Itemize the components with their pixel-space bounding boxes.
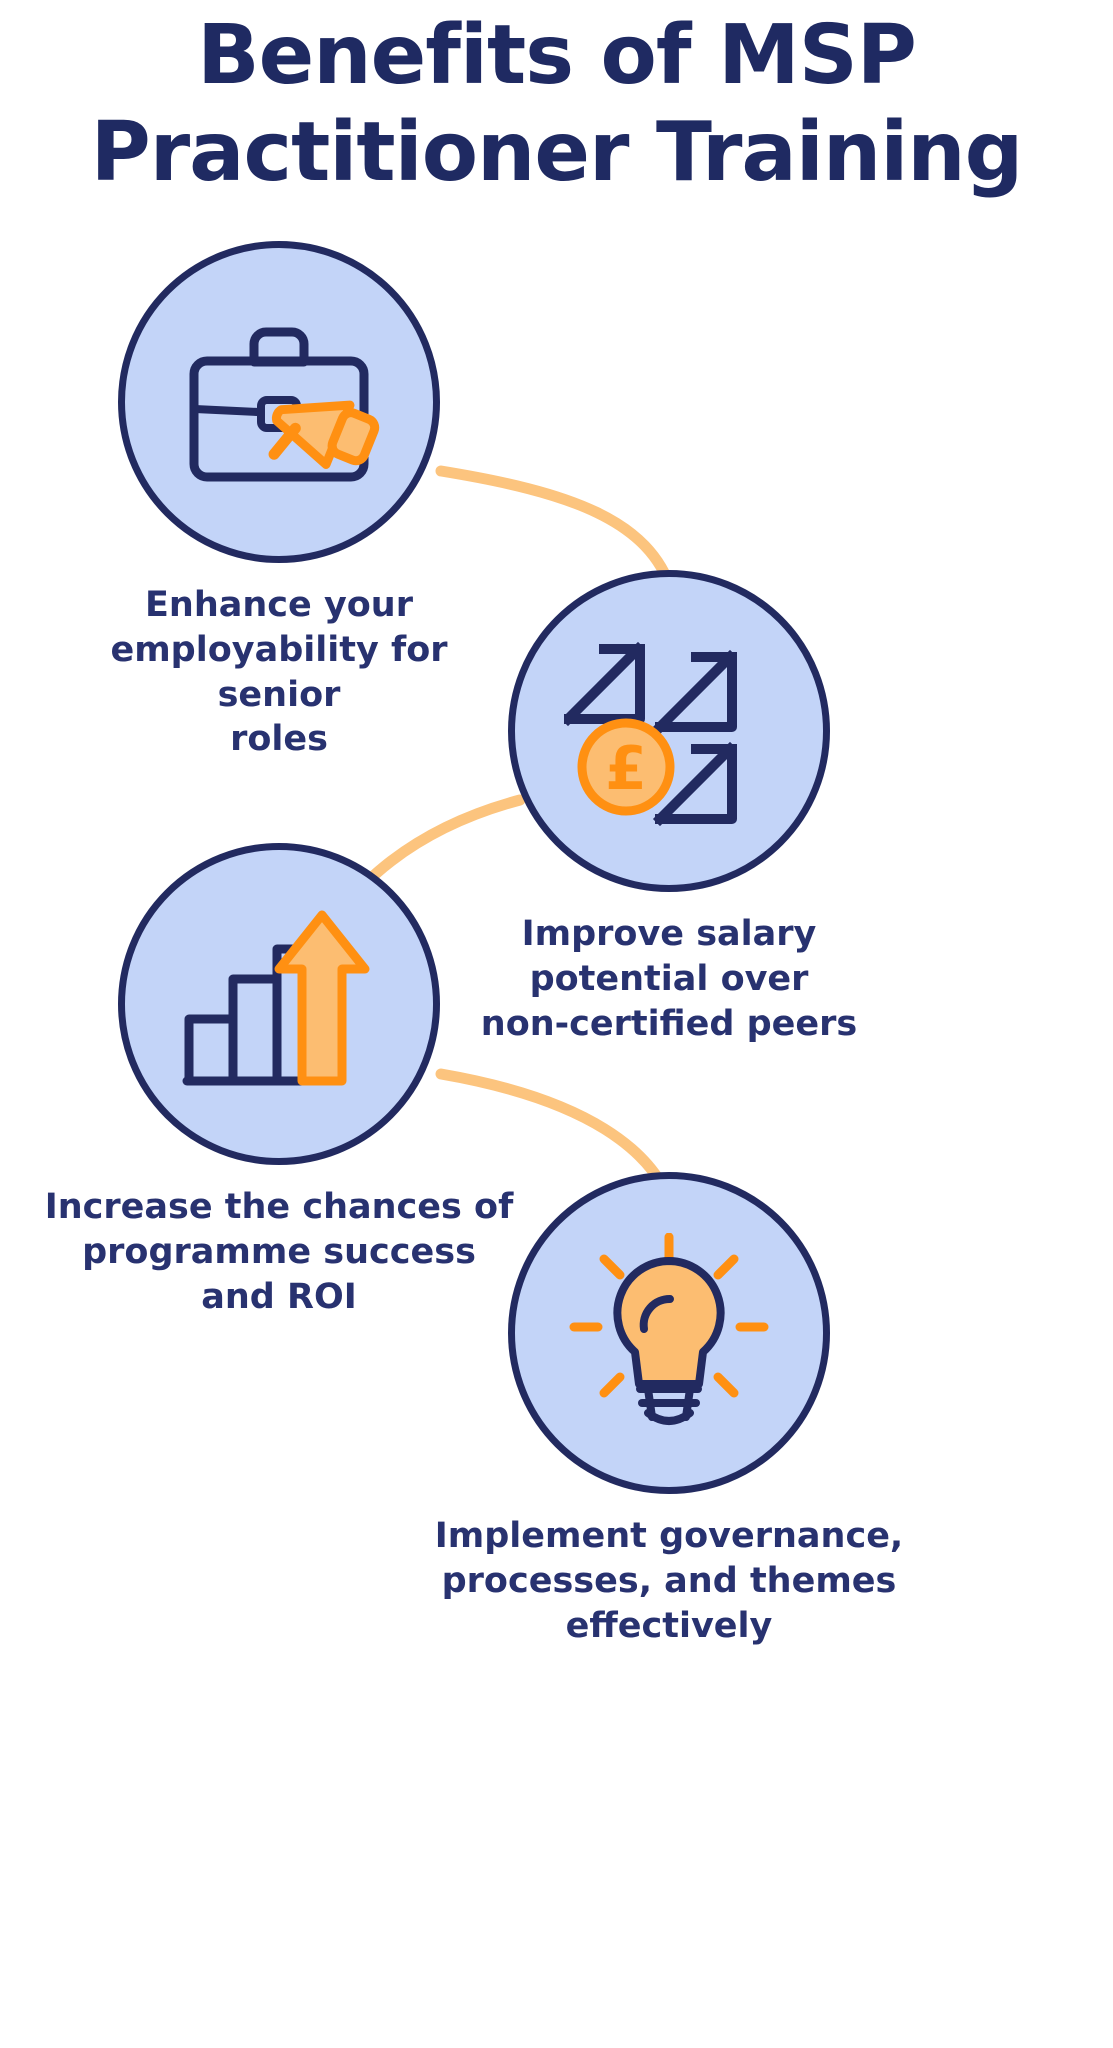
- benefit-node-3[interactable]: Increase the chances of programme succes…: [118, 843, 514, 1319]
- caption-line: Implement governance,: [434, 1514, 904, 1559]
- caption-line: roles: [44, 717, 514, 762]
- bar-chart-up-arrow-icon: [179, 909, 379, 1099]
- infographic-root: Benefits of MSP Practitioner Training: [0, 0, 1113, 2048]
- lightbulb-idea-icon: [564, 1233, 774, 1433]
- benefit-node-2[interactable]: £ Improve salary potential over non-cert…: [508, 570, 904, 1046]
- benefit-node-1[interactable]: Enhance your employability for senior ro…: [118, 241, 514, 762]
- benefit-caption-1: Enhance your employability for senior ro…: [44, 583, 514, 762]
- benefit-icon-circle-2: £: [508, 570, 830, 892]
- benefit-caption-4: Implement governance, processes, and the…: [434, 1514, 904, 1648]
- caption-line: programme success: [44, 1230, 514, 1275]
- benefit-caption-3: Increase the chances of programme succes…: [44, 1185, 514, 1319]
- growth-arrows-pound-coin-icon: £: [564, 631, 774, 831]
- caption-line: processes, and themes: [434, 1559, 904, 1604]
- benefit-icon-circle-3: [118, 843, 440, 1165]
- caption-line: Increase the chances of: [44, 1185, 514, 1230]
- benefit-node-4[interactable]: Implement governance, processes, and the…: [508, 1172, 904, 1648]
- caption-line: Enhance your: [44, 583, 514, 628]
- caption-line: effectively: [434, 1604, 904, 1649]
- caption-line: and ROI: [44, 1275, 514, 1320]
- caption-line: employability for senior: [44, 628, 514, 718]
- benefit-icon-circle-1: [118, 241, 440, 563]
- briefcase-megaphone-icon: [164, 297, 394, 507]
- svg-text:£: £: [605, 734, 647, 804]
- benefit-icon-circle-4: [508, 1172, 830, 1494]
